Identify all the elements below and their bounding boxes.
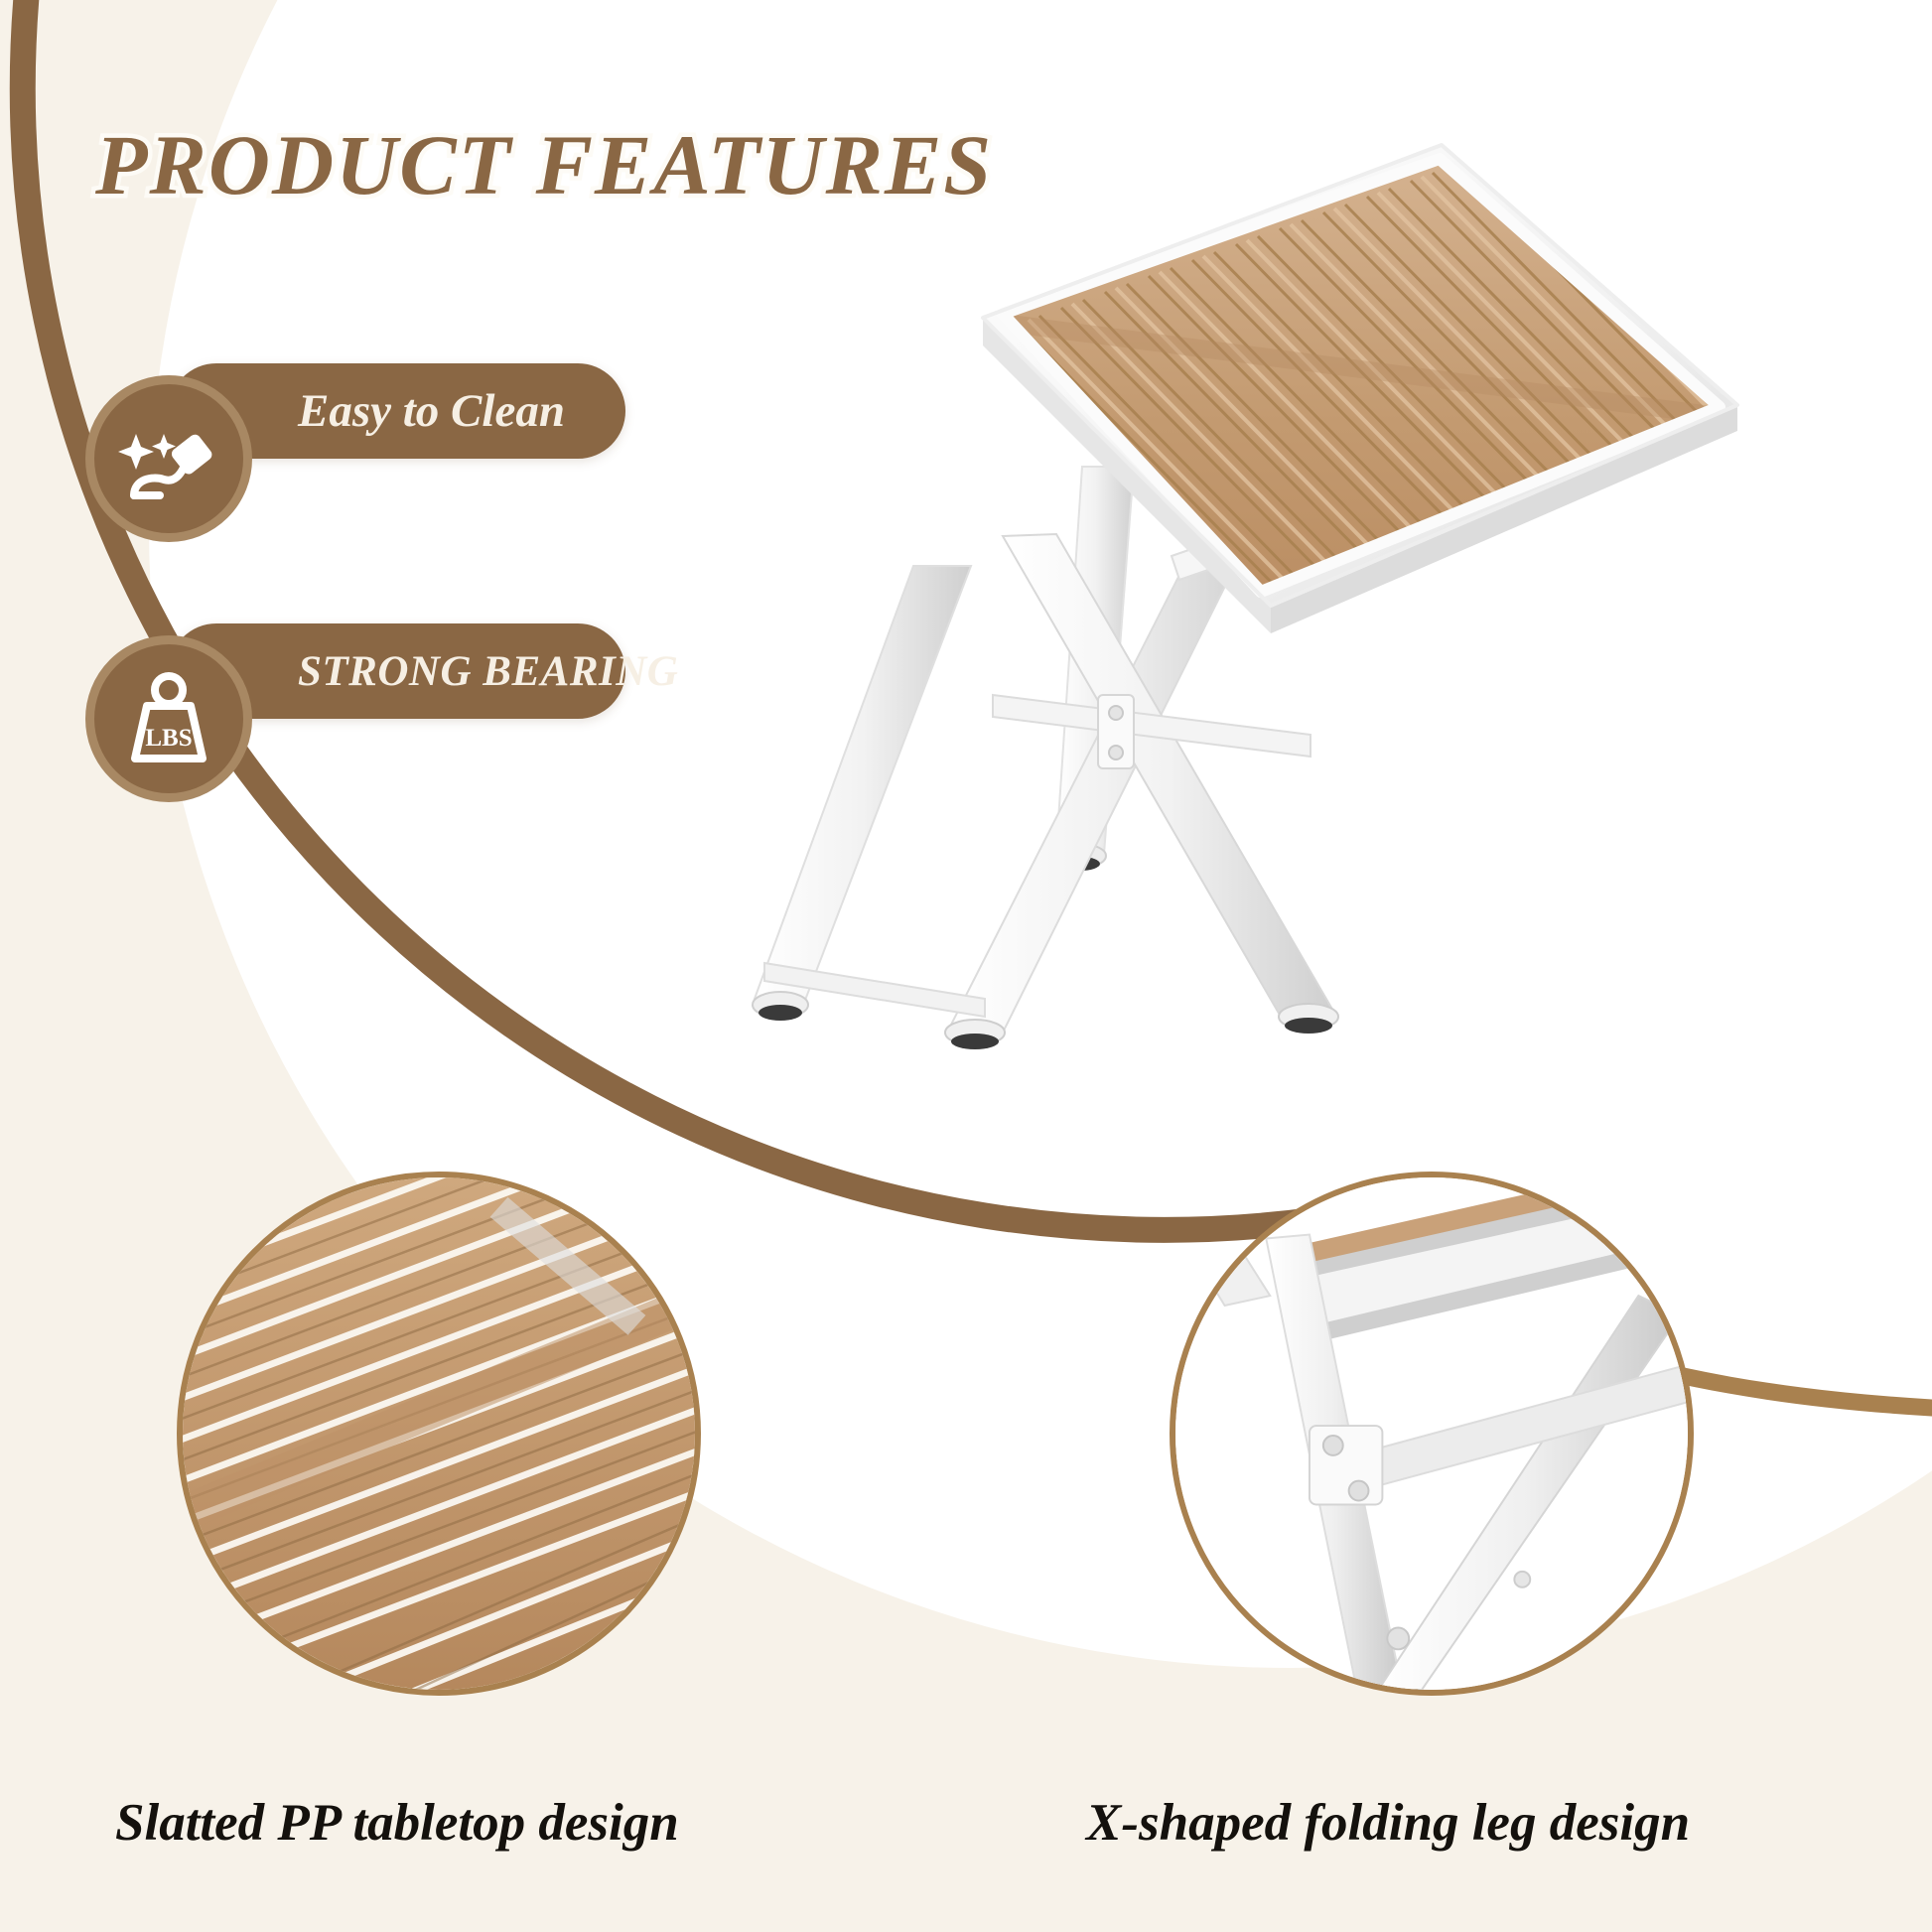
detail-circle-x-leg (1170, 1172, 1694, 1696)
infographic-canvas: PRODUCT FEATURES Easy to Clean (0, 0, 1932, 1932)
page-title: PRODUCT FEATURES (95, 115, 993, 214)
detail-circle-slatted-tabletop (177, 1172, 701, 1696)
sparkle-wipe-icon (114, 404, 223, 513)
detail-caption-right: X-shaped folding leg design (1086, 1793, 1690, 1853)
x-leg-hinge-closeup (1175, 1177, 1688, 1690)
lbs-icon-text: LBS (145, 725, 192, 752)
feature-label: Easy to Clean (298, 384, 565, 438)
lbs-weight-icon: LBS (113, 663, 224, 774)
detail-caption-left: Slatted PP tabletop design (115, 1793, 679, 1853)
slatted-tabletop-closeup (183, 1177, 695, 1690)
feature-icon-circle (85, 375, 252, 542)
feature-icon-circle: LBS (85, 635, 252, 802)
feature-label: STRONG BEARING (298, 647, 678, 696)
background-white-right (1092, 0, 1932, 1320)
